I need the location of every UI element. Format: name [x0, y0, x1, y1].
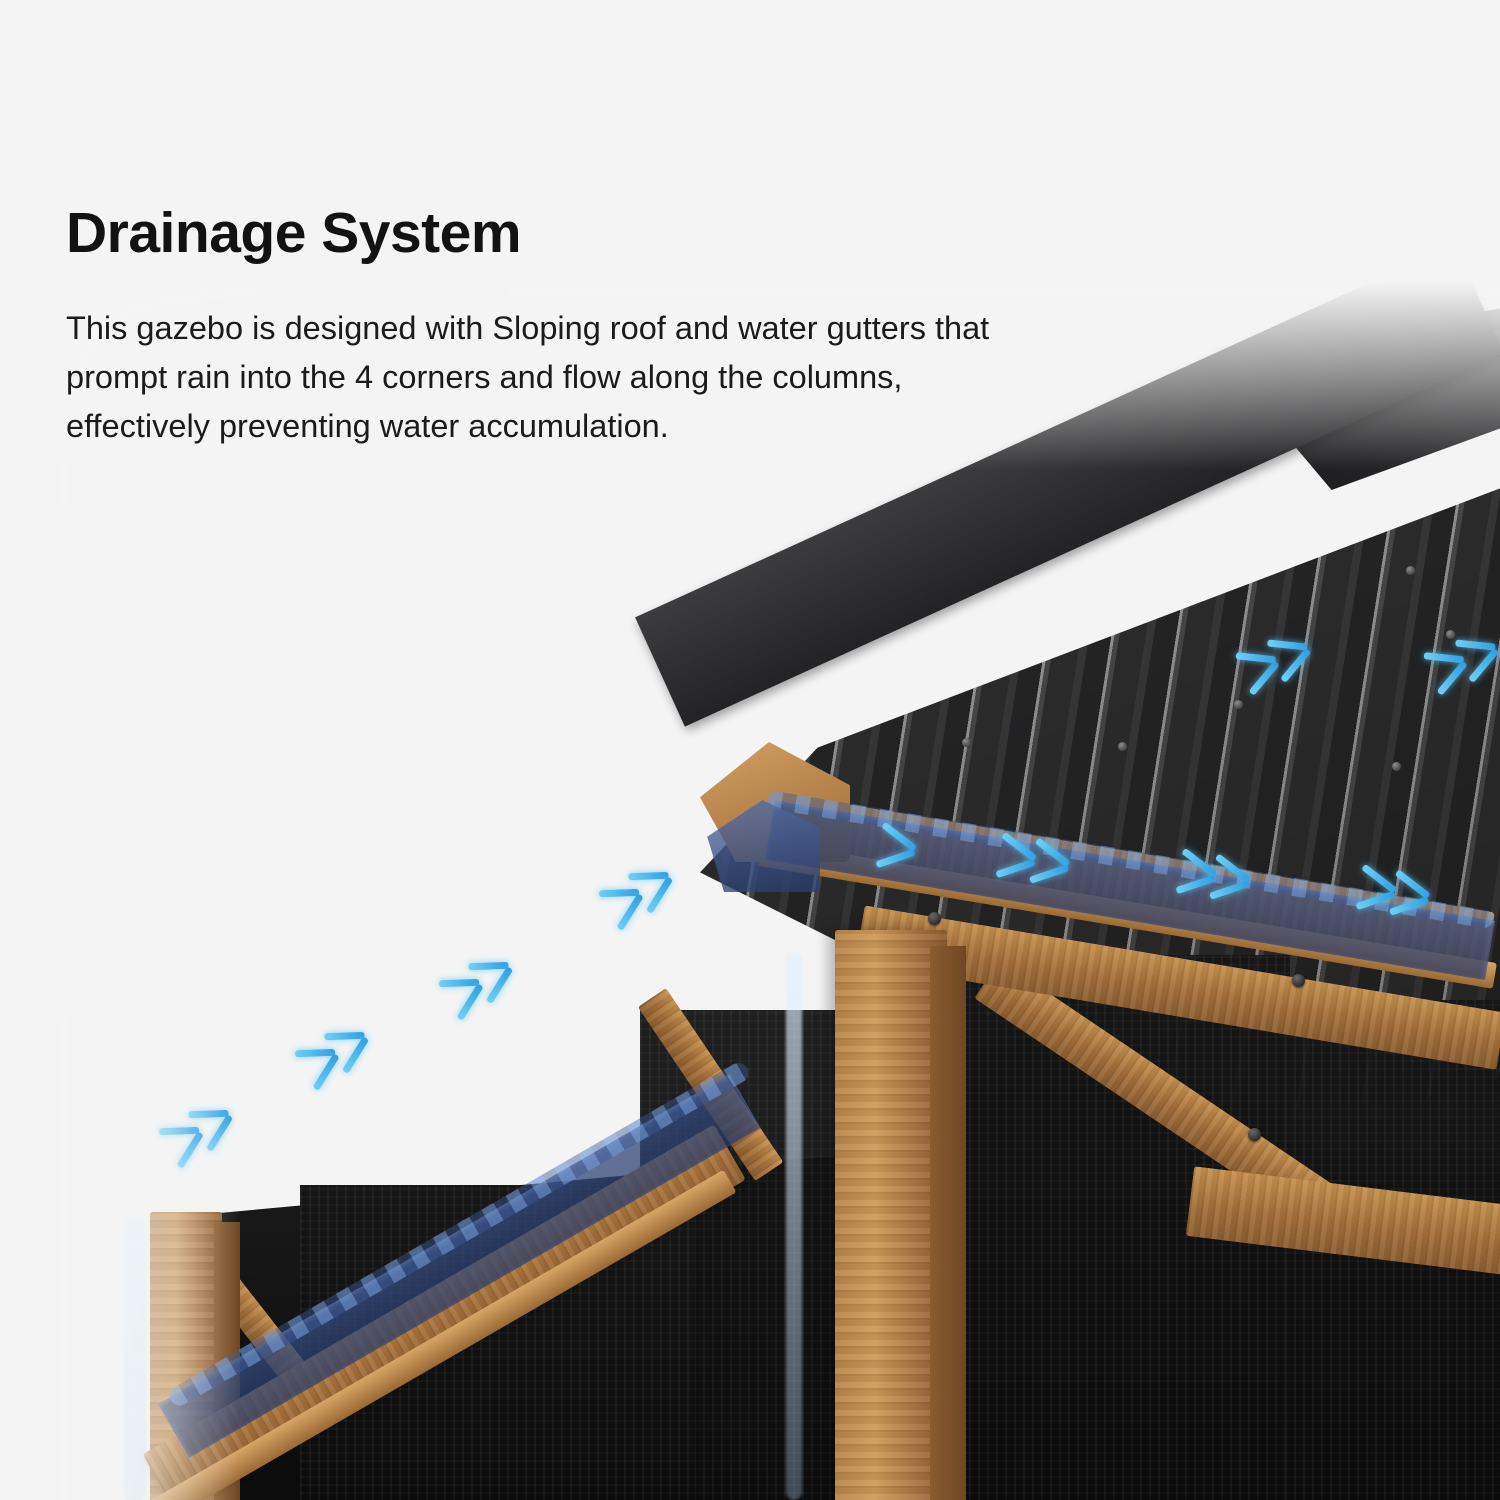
page-description: This gazebo is designed with Sloping roo… — [66, 304, 1156, 450]
bolt-icon — [1248, 1128, 1261, 1141]
bolt-icon — [928, 912, 941, 925]
roof-rivet — [1406, 566, 1415, 575]
infographic-canvas: Drainage System This gazebo is designed … — [0, 0, 1500, 1500]
roof-rivet — [1446, 630, 1455, 639]
roof-rivet — [1392, 762, 1401, 771]
water-stream — [124, 1216, 146, 1500]
roof-rivet — [962, 738, 971, 747]
description-line-2: prompt rain into the 4 corners and flow … — [66, 353, 1156, 402]
description-line-3: effectively preventing water accumulatio… — [66, 402, 1156, 451]
water-stream — [786, 952, 802, 1500]
description-line-1: This gazebo is designed with Sloping roo… — [66, 304, 1156, 353]
page-title: Drainage System — [66, 205, 1186, 262]
roof-rivet — [1234, 700, 1243, 709]
bolt-icon — [1292, 974, 1305, 987]
text-block: Drainage System This gazebo is designed … — [66, 205, 1186, 450]
support-column-face — [930, 946, 966, 1500]
roof-rivet — [1118, 742, 1127, 751]
